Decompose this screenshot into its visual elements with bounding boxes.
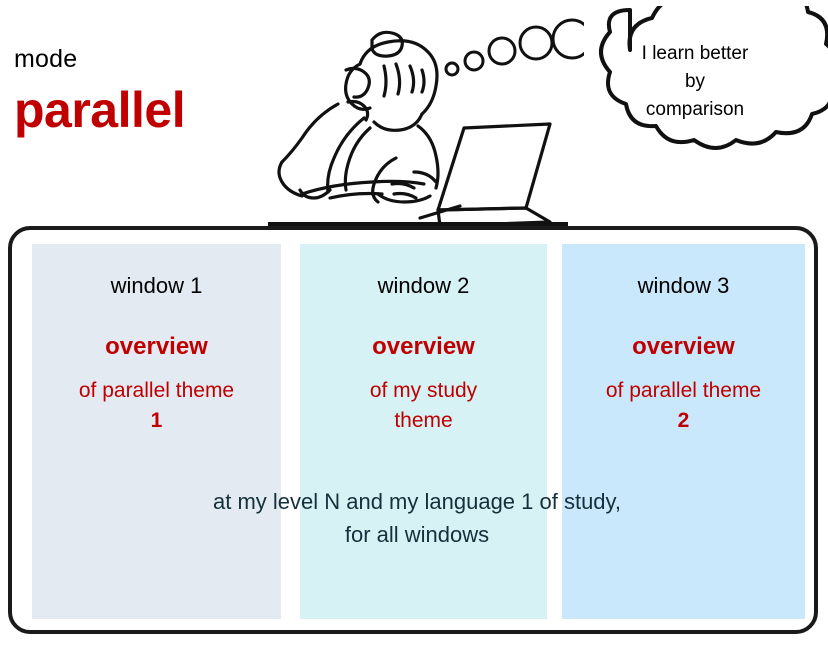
window-overview-label: overview xyxy=(562,332,805,362)
header-area: mode parallel xyxy=(0,0,828,228)
window-subtitle-emphasis: 2 xyxy=(678,409,690,432)
mode-value: parallel xyxy=(14,82,185,138)
thought-bubble-line-3: comparison xyxy=(600,96,790,124)
windows-container: window 1 overview of parallel theme 1 wi… xyxy=(8,226,818,634)
window-panel-3[interactable]: window 3 overview of parallel theme 2 xyxy=(562,244,805,619)
window-panel-2[interactable]: window 2 overview of my study theme xyxy=(300,244,547,619)
thought-bubble-line-2: by xyxy=(600,68,790,96)
thought-bubble-text: I learn better by comparison xyxy=(600,40,790,124)
window-overview-label: overview xyxy=(300,332,547,362)
window-subtitle-text: of my study xyxy=(370,379,477,402)
mode-label: mode xyxy=(14,45,77,73)
panels-row: window 1 overview of parallel theme 1 wi… xyxy=(12,230,822,638)
window-subtitle: of parallel theme 1 xyxy=(32,376,281,436)
window-subtitle: of parallel theme 2 xyxy=(562,376,805,436)
window-subtitle-text: of parallel theme xyxy=(79,379,234,402)
window-overview-label: overview xyxy=(32,332,281,362)
window-title: window 1 xyxy=(32,272,281,300)
window-subtitle-emphasis: theme xyxy=(394,409,452,432)
thought-bubble-line-1: I learn better xyxy=(600,40,790,68)
window-subtitle-text: of parallel theme xyxy=(606,379,761,402)
window-subtitle: of my study theme xyxy=(300,376,547,436)
window-panel-1[interactable]: window 1 overview of parallel theme 1 xyxy=(32,244,281,619)
window-subtitle-emphasis: 1 xyxy=(151,409,163,432)
window-title: window 2 xyxy=(300,272,547,300)
window-title: window 3 xyxy=(562,272,805,300)
